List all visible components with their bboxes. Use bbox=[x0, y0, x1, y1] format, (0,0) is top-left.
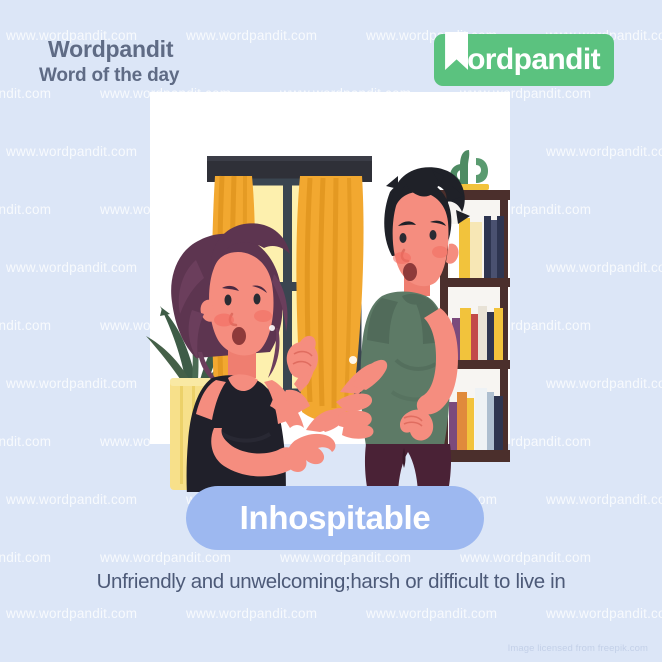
bookmark-icon bbox=[442, 34, 472, 86]
page-subtitle: Word of the day bbox=[39, 64, 179, 88]
image-credit: Image licensed from freepik.com bbox=[508, 643, 648, 654]
wordpandit-logo[interactable]: ordpandit bbox=[434, 34, 614, 86]
word-definition: Unfriendly and unwelcoming;harsh or diff… bbox=[0, 570, 662, 594]
illustration-arguing-couple bbox=[0, 92, 662, 492]
logo-text: ordpandit bbox=[467, 45, 600, 75]
page-title: Wordpandit bbox=[48, 36, 179, 62]
word-of-the-day-badge: Inhospitable bbox=[186, 486, 484, 550]
word-of-the-day-card: www.wordpandit.com www.wordpandit.com ww… bbox=[0, 0, 662, 662]
word-label: Inhospitable bbox=[240, 499, 431, 537]
header: Wordpandit Word of the day bbox=[48, 36, 179, 88]
